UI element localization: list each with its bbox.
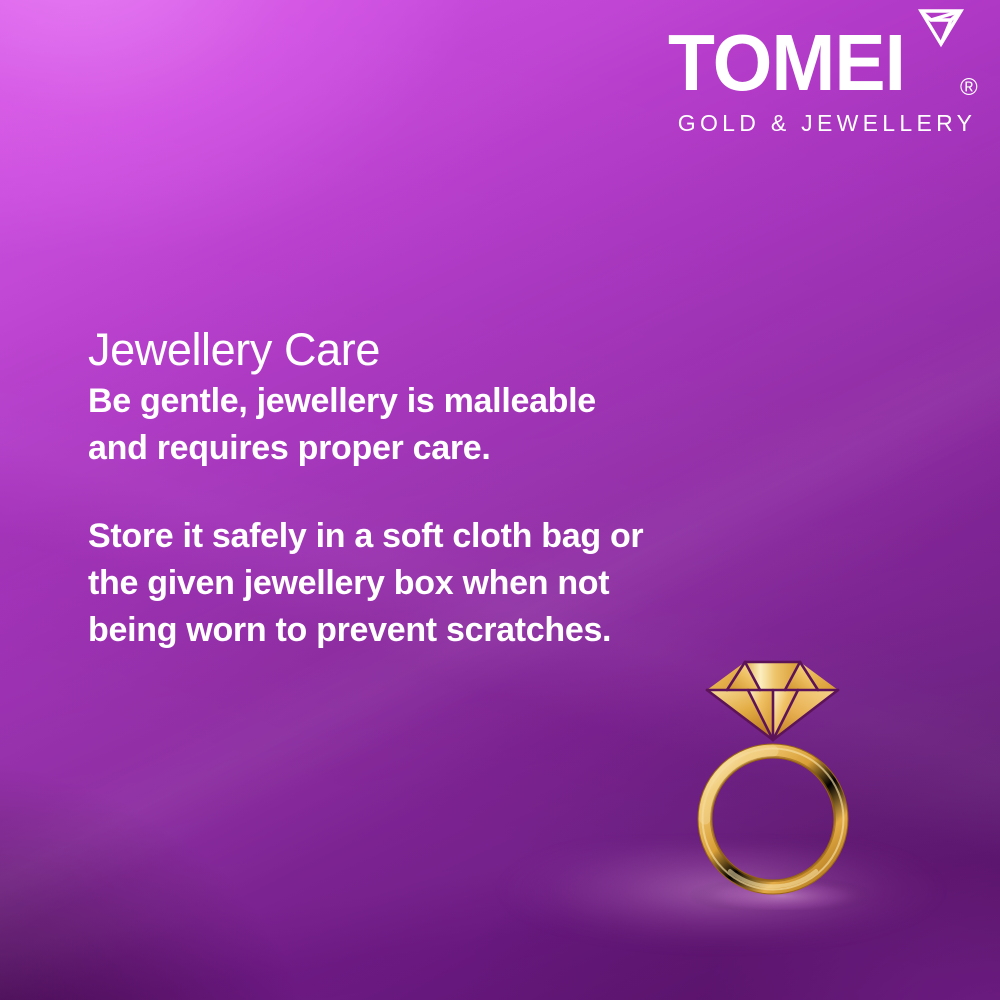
page-title: Jewellery Care bbox=[88, 324, 380, 376]
logo-tagline: GOLD & JEWELLERY bbox=[671, 110, 983, 137]
gold-ring-band bbox=[703, 749, 844, 890]
registered-trademark-icon: ® bbox=[960, 76, 978, 100]
body-paragraph: Be gentle, jewellery is malleable and re… bbox=[88, 378, 648, 472]
body-paragraph: Store it safely in a soft cloth bag or t… bbox=[88, 513, 648, 654]
body-copy: Be gentle, jewellery is malleable and re… bbox=[88, 378, 648, 654]
logo-wordmark: TOMEI bbox=[668, 27, 956, 99]
diamond-ring-illustration bbox=[690, 640, 870, 910]
brilliant-cut-diamond bbox=[707, 662, 838, 740]
brand-logo: TOMEI ® GOLD & JEWELLERY bbox=[660, 4, 990, 144]
poster-canvas: TOMEI ® GOLD & JEWELLERY Jewellery Care … bbox=[0, 0, 1000, 1000]
